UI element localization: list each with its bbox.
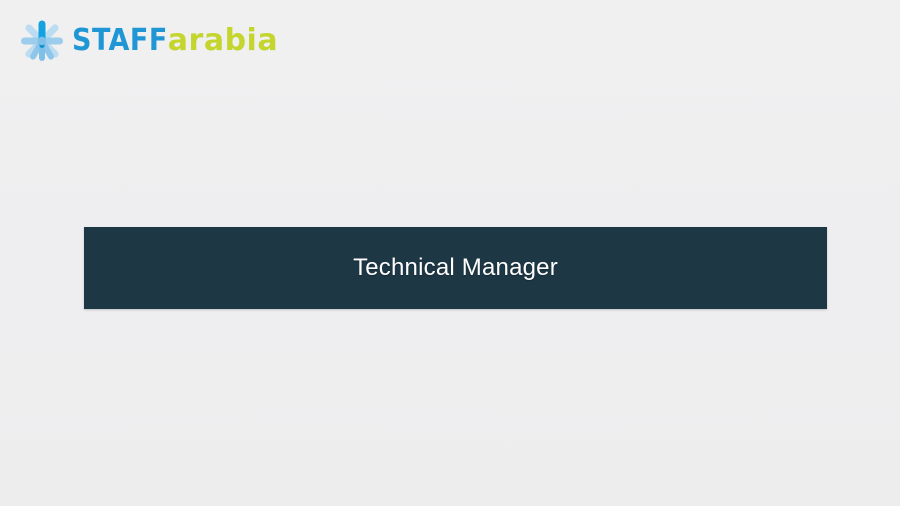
title-banner: Technical Manager [84,227,827,309]
brand-wordmark-arabia: arabia [168,26,278,56]
brand-wordmark: STAFFarabia [72,26,278,56]
page-title: Technical Manager [353,254,558,283]
snowflake-logo-mark [18,17,66,65]
brand-logo[interactable]: STAFFarabia [18,17,278,65]
slide-canvas: STAFFarabia Technical Manager [0,0,900,506]
brand-wordmark-staff: STAFF [72,26,168,56]
